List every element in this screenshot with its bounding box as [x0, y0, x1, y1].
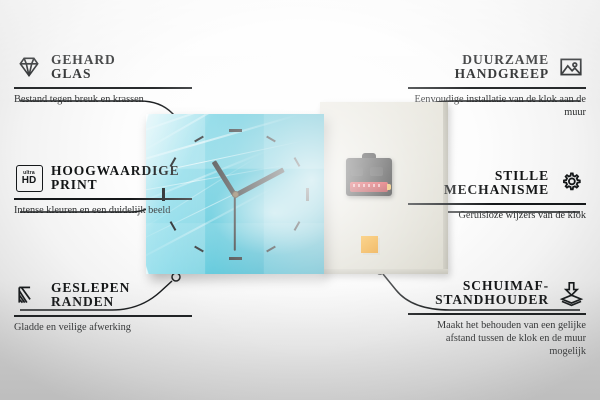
feature-gehard-glas: GEHARDGLAS Bestand tegen breuk en krasse…	[14, 50, 192, 106]
feature-geslepen-randen: GESLEPENRANDEN Gladde en veilige afwerki…	[14, 278, 192, 334]
feature-desc: Bestand tegen breuk en krassen	[14, 93, 192, 106]
feature-title: DUURZAMEHANDGREEP	[455, 53, 549, 81]
feature-desc: Intense kleuren en een duidelijk beeld	[14, 204, 192, 217]
feature-desc: Eenvoudige installatie van de klok aan d…	[408, 93, 586, 119]
divider	[408, 203, 586, 205]
feature-desc: Gladde en veilige afwerking	[14, 321, 192, 334]
hand-hub	[232, 191, 239, 198]
divider	[14, 87, 192, 89]
second-hand	[234, 195, 236, 251]
feature-hoogwaardige-print: ultra HD HOOGWAARDIGEPRINT Intense kleur…	[14, 161, 192, 217]
divider	[14, 198, 192, 200]
feature-schuimafstandhouder: SCHUIMAF-STANDHOUDER Maakt het behouden …	[408, 276, 586, 358]
feature-title: HOOGWAARDIGEPRINT	[51, 164, 180, 192]
feature-stille-mechanisme: STILLEMECHANISME Geruisloze wijzers van …	[408, 166, 586, 222]
feature-title: GEHARDGLAS	[51, 53, 116, 81]
battery	[350, 182, 388, 192]
feature-desc: Maakt het behouden van een gelijke afsta…	[408, 319, 586, 359]
infographic-canvas: GEHARDGLAS Bestand tegen breuk en krasse…	[0, 0, 600, 400]
quartz-movement	[346, 158, 392, 196]
picture-frame-icon	[556, 52, 586, 82]
feature-title: SCHUIMAF-STANDHOUDER	[435, 279, 549, 307]
feature-duurzame-handgreep: DUURZAMEHANDGREEP Eenvoudige installatie…	[408, 50, 586, 119]
feature-title: GESLEPENRANDEN	[51, 281, 130, 309]
press-down-icon	[556, 278, 586, 308]
divider	[408, 87, 586, 89]
ultra-hd-icon: ultra HD	[14, 163, 44, 193]
divider	[14, 315, 192, 317]
feature-desc: Geruisloze wijzers van de klok	[408, 209, 586, 222]
divider	[408, 313, 586, 315]
foam-spacer	[361, 236, 378, 253]
feature-title: STILLEMECHANISME	[444, 169, 549, 197]
beveled-edges-icon	[14, 280, 44, 310]
gear-icon	[556, 168, 586, 198]
diamond-icon	[14, 52, 44, 82]
